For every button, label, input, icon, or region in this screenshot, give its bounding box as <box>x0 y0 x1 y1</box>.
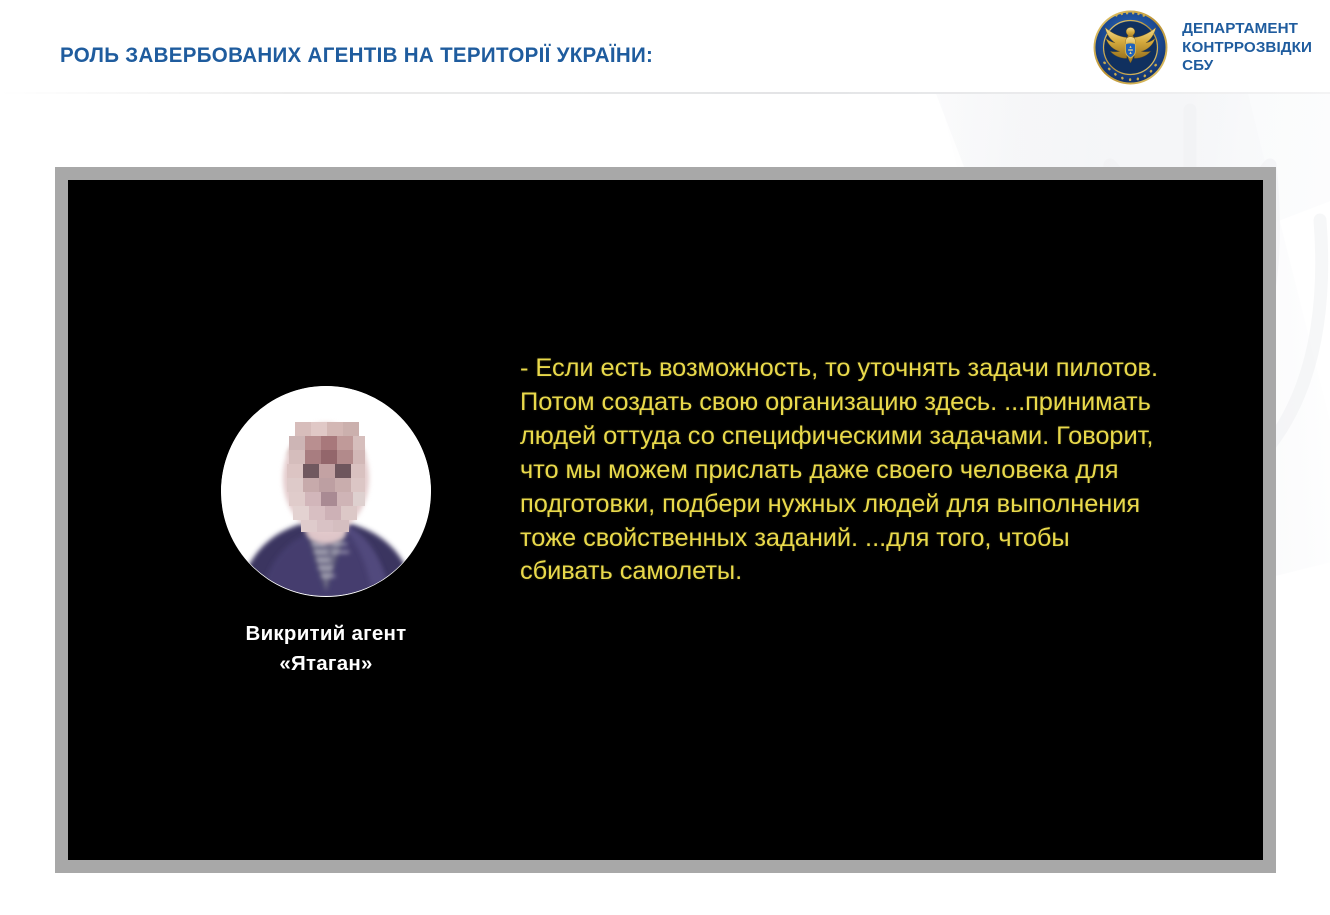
logo-line-2: КОНТРРОЗВІДКИ <box>1182 39 1312 57</box>
logo-line-3: СБУ <box>1182 57 1312 75</box>
content-frame: Викритий агент «Ятаган» - Если есть возм… <box>55 167 1276 873</box>
organization-logo: ДЕПАРТАМЕНТ КОНТРРОЗВІДКИ СБУ <box>1092 9 1312 86</box>
page-title: РОЛЬ ЗАВЕРБОВАНИХ АГЕНТІВ НА ТЕРИТОРІЇ У… <box>60 43 653 68</box>
presentation-slide: РОЛЬ ЗАВЕРБОВАНИХ АГЕНТІВ НА ТЕРИТОРІЇ У… <box>0 0 1330 915</box>
organization-name: ДЕПАРТАМЕНТ КОНТРРОЗВІДКИ СБУ <box>1182 20 1312 76</box>
quote-text: - Если есть возможность, то уточнять зад… <box>520 352 1160 589</box>
slide-header: РОЛЬ ЗАВЕРБОВАНИХ АГЕНТІВ НА ТЕРИТОРІЇ У… <box>0 0 1330 93</box>
agent-profile: Викритий агент «Ятаган» <box>197 386 455 680</box>
avatar <box>221 386 431 597</box>
content-panel: Викритий агент «Ятаган» - Если есть возм… <box>68 180 1263 860</box>
sbu-emblem-icon <box>1092 9 1169 86</box>
avatar-caption: Викритий агент «Ятаган» <box>246 619 407 680</box>
logo-line-1: ДЕПАРТАМЕНТ <box>1182 20 1312 38</box>
avatar-caption-line-1: Викритий агент <box>246 619 407 649</box>
avatar-caption-line-2: «Ятаган» <box>246 649 407 679</box>
header-divider <box>0 92 1330 94</box>
blurred-portrait-image <box>221 386 431 597</box>
